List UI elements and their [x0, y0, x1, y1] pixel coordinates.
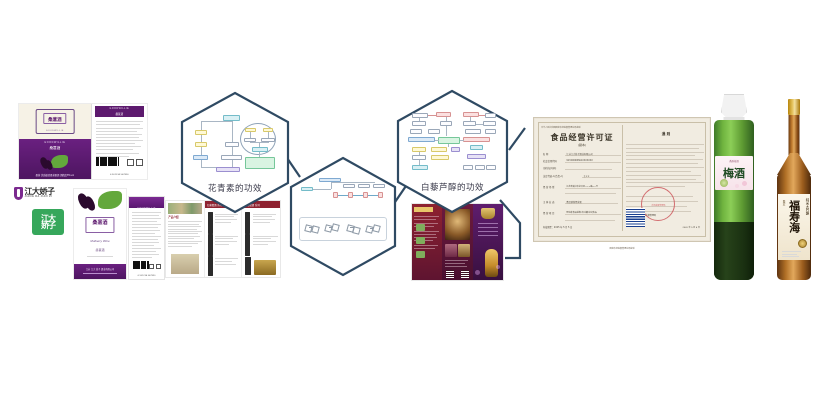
food-business-license[interactable]: 中华人民共和国国家市场监督管理总局监制 食品经营许可证 (副本) 名 称 江苏江… — [533, 117, 711, 242]
trifold-figure — [485, 249, 498, 277]
bottle-umeshu-label-cn: 梅酒 — [715, 165, 753, 181]
logo-lockup: 江大娇子 JIANG DA JIAO ZI — [14, 187, 55, 200]
structure-4 — [365, 222, 382, 235]
bottle-neck — [789, 115, 800, 155]
structure-2 — [324, 222, 341, 235]
certificate-field-label: 经 营 项 目 — [543, 211, 554, 215]
plum-blossom-icon — [742, 181, 747, 186]
molecular-flowchart — [301, 177, 385, 211]
bottle-umeshu-label[interactable]: 香醇梅酒 梅酒 — [715, 156, 753, 190]
catalog-gift-box — [245, 257, 278, 275]
barcode — [133, 261, 149, 269]
certificate-divider — [622, 125, 623, 231]
certificate-header-note: 中华人民共和国国家市场监督管理总局监制 — [541, 126, 580, 129]
trifold-sub-photo — [445, 244, 457, 258]
bottle-brand-cn: 桑葚酒 — [74, 219, 126, 226]
back-header-band: GOODWILLIE 桑葚酒 — [95, 106, 144, 117]
carton-label-purple-panel: GOODWILLIE 桑葚酒 桑葚 优质酿造桑葚果酒 酒精度8%vol — [19, 139, 91, 180]
certificate-issue-date: 2020 年 5 月 6 日 — [683, 226, 700, 229]
certificate-title: 食品经营许可证 — [542, 132, 622, 143]
product-showcase-canvas: 桑葚酒 GOODWILLIE GOODWILLIE 桑葚酒 桑葚 优质酿造桑葚果… — [0, 0, 828, 411]
bottle-fukujukai-label-small: 限定 — [781, 200, 785, 205]
mulberry-leaf-icon — [98, 191, 122, 209]
cert-marks — [149, 264, 161, 269]
certificate-subtitle: (副本) — [542, 143, 622, 147]
trifold-thumb — [416, 224, 425, 231]
certificate-field-label: 名 称 — [543, 152, 548, 156]
barcode-number: 6 901234 567890 — [129, 275, 164, 277]
barcode-number: 6 901234 567890 — [92, 174, 147, 176]
bottle-umeshu-label-small: 香醇梅酒 — [715, 159, 753, 163]
certificate-terms-block — [626, 143, 704, 191]
hex-resveratrol[interactable]: 白藜芦醇的功效 — [394, 88, 511, 215]
logo-green-line2: 娇子 — [41, 222, 55, 229]
structure-1 — [303, 222, 320, 235]
bottle-fukujukai-label-side: 純米大吟醸 — [805, 198, 808, 215]
bottle-liquid — [714, 222, 754, 280]
bottle-label-text-zone: Mulberry Wine 桑葚酒 — [74, 236, 126, 264]
certificate-valid-line: 有效期至：2025 年 5 月 5 日 — [543, 225, 572, 229]
hex-anthocyanin[interactable]: 花青素的功效 — [178, 90, 292, 215]
info-strip-header: GOODWILLIE 桑葚果酒 — [129, 197, 164, 208]
trifold-panel — [442, 204, 472, 280]
plum-blossom-icon — [735, 184, 739, 188]
bottle-cap — [788, 99, 800, 115]
carton-brand-cn-small: 桑葚酒 — [19, 146, 91, 151]
info-strip-card: GOODWILLIE 桑葚果酒 — [128, 196, 165, 280]
brand-crest: 桑葚酒 GOODWILLIE — [35, 109, 74, 135]
resveratrol-flowchart — [408, 112, 497, 174]
cert-marks — [127, 159, 143, 166]
certificate-footer-note: 国家市场监督管理总局监制 — [534, 247, 710, 250]
catalog-intro-title: 产品介绍 — [168, 215, 178, 219]
catalog-intro-photo — [171, 254, 200, 274]
anthocyanin-flowchart — [192, 114, 278, 176]
brand-logo-horizontal: 江大娇子 JIANG DA JIAO ZI — [14, 187, 82, 205]
bottle-fukujukai[interactable]: 純米大吟醸 福寿海 限定 — [770, 99, 818, 280]
logo-wordmark-pinyin: JIANG DA JIAO ZI — [25, 196, 55, 199]
info-brand-cn: 桑葚果酒 — [129, 270, 164, 274]
carton-label-card: 桑葚酒 GOODWILLIE GOODWILLIE 桑葚酒 桑葚 优质酿造桑葚果… — [18, 103, 148, 180]
bottle-brand-cn-small: 桑葚酒 — [74, 248, 126, 252]
bottle-umeshu[interactable]: 香醇梅酒 梅酒 — [710, 94, 758, 280]
trifold-sub-photo — [458, 244, 470, 258]
trifold-thumb — [416, 251, 425, 258]
carton-front-text: 桑葚 优质酿造桑葚果酒 酒精度8%vol — [22, 173, 88, 177]
gold-medal-icon — [798, 239, 807, 248]
structure-3 — [345, 222, 362, 235]
carton-label-back: GOODWILLIE 桑葚酒 — [91, 104, 147, 179]
carton-label-front: 桑葚酒 GOODWILLIE GOODWILLIE 桑葚酒 桑葚 优质酿造桑葚果… — [19, 104, 91, 179]
mulberry-berry-icon — [84, 195, 98, 212]
qr-code — [461, 270, 469, 278]
catalog-product-entry — [245, 233, 278, 253]
qr-code[interactable] — [626, 208, 645, 227]
hex-molecular[interactable] — [287, 155, 399, 278]
qr-code — [446, 270, 454, 278]
trifold-panel — [412, 204, 442, 280]
bottle-fukujukai-label-cn: 福寿海 — [788, 200, 799, 233]
bottle-fukujukai-label[interactable]: 純米大吟醸 福寿海 限定 — [778, 194, 810, 260]
official-seal-text: 市场监督管理局 — [641, 204, 675, 207]
barcode — [96, 157, 118, 167]
hex-resveratrol-caption: 白藜芦醇的功效 — [394, 181, 511, 193]
bottle-label-footer-text: 江苏 江大 娇子 酒业有限公司 — [76, 267, 124, 271]
carton-brand-en-small: GOODWILLIE — [19, 141, 91, 144]
certificate-field-label: (身份证号码) — [543, 166, 556, 170]
crest-brand-cn: 桑葚酒 — [36, 117, 73, 123]
catalog-intro-text — [168, 220, 201, 250]
chemical-structures-panel — [299, 217, 387, 241]
certificate-fields: 名 称 江苏江大娇子酒业有限公司 社会信用代码 91320000MA1XXXXX… — [543, 152, 621, 230]
bottle-shoulder — [777, 153, 811, 175]
back-brand-cn: 桑葚酒 — [95, 112, 144, 116]
certificate-field-label: 主 体 业 态 — [543, 200, 554, 204]
back-brand-en: GOODWILLIE — [95, 108, 144, 110]
bottle-body — [714, 120, 754, 280]
back-ingredient-block — [96, 119, 144, 158]
certificate-field-label: 法定代表人(负责人) — [543, 174, 563, 178]
bottle-label-footer: 江苏 江大 娇子 酒业有限公司 — [74, 264, 126, 279]
trifold-bokeh — [475, 270, 480, 275]
trifold-thumb — [416, 237, 425, 244]
trifold-bokeh — [496, 265, 500, 269]
crest-brand-en: GOODWILLIE — [36, 130, 73, 132]
certificate-right-heading: 通 则 — [622, 132, 710, 137]
bottle-brand-en: Mulberry Wine — [74, 239, 126, 243]
catalog-product-entry — [207, 233, 239, 253]
hex-anthocyanin-caption: 花青素的功效 — [178, 182, 292, 194]
logo-mark-icon — [14, 187, 23, 200]
trifold-panel — [473, 204, 503, 280]
bottle-label-artwork: 桑葚酒 — [74, 189, 126, 236]
plum-blossom-icon — [720, 179, 728, 187]
brand-logo-green-badge: 江大 娇子 — [32, 209, 64, 235]
info-strip-body — [132, 210, 161, 261]
certificate-field-label: 经 营 场 所 — [543, 185, 554, 189]
bottle-label-card: 桑葚酒 Mulberry Wine 桑葚酒 江苏 江大 娇子 酒业有限公司 — [73, 188, 127, 280]
certificate-field-label: 社会信用代码 — [543, 159, 557, 163]
catalog-product-entry — [207, 255, 239, 275]
mulberry-leaf-icon — [51, 155, 68, 168]
